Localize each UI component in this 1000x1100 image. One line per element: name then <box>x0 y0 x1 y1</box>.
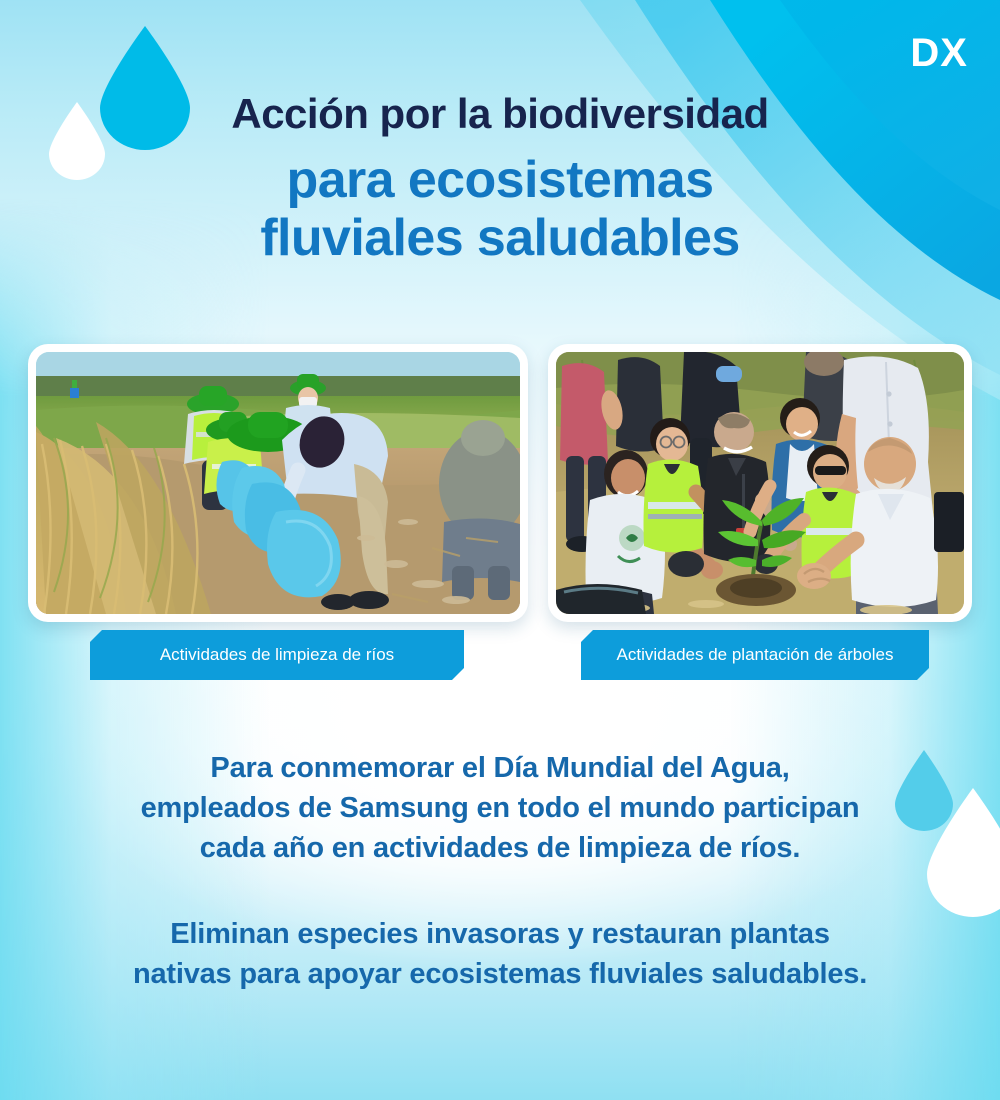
photo-captions: Actividades de limpieza de ríos Activida… <box>0 630 1000 684</box>
caption-tree-planting[interactable]: Actividades de plantación de árboles <box>581 630 929 680</box>
page-title: Acción por la biodiversidad para ecosist… <box>0 90 1000 268</box>
title-line-3: fluviales saludables <box>0 209 1000 267</box>
dx-logo-text: DX <box>910 31 968 75</box>
paragraph-2: Eliminan especies invasoras y restauran … <box>0 914 1000 994</box>
photo-card-tree-planting[interactable] <box>548 344 972 622</box>
photo-gallery <box>0 344 1000 622</box>
title-line-1: Acción por la biodiversidad <box>0 90 1000 137</box>
infographic-poster: DX Acción por la biodiversidad para ecos… <box>0 0 1000 1100</box>
paragraph-1-line-3: cada año en actividades de limpieza de r… <box>0 828 1000 868</box>
caption-river-cleanup[interactable]: Actividades de limpieza de ríos <box>90 630 464 680</box>
paragraph-1: Para conmemorar el Día Mundial del Agua,… <box>0 748 1000 868</box>
paragraph-2-line-1: Eliminan especies invasoras y restauran … <box>0 914 1000 954</box>
paragraph-2-line-2: nativas para apoyar ecosistemas fluviale… <box>0 954 1000 994</box>
title-line-2: para ecosistemas <box>0 151 1000 209</box>
paragraph-1-line-1: Para conmemorar el Día Mundial del Agua, <box>0 748 1000 788</box>
photo-card-river-cleanup[interactable] <box>28 344 528 622</box>
photo-river-cleanup <box>36 352 520 614</box>
poster-header: DX Acción por la biodiversidad para ecos… <box>0 0 1000 320</box>
paragraph-1-line-2: empleados de Samsung en todo el mundo pa… <box>0 788 1000 828</box>
photo-tree-planting <box>556 352 964 614</box>
body-copy: Para conmemorar el Día Mundial del Agua,… <box>0 748 1000 994</box>
dx-logo: DX <box>910 33 968 73</box>
